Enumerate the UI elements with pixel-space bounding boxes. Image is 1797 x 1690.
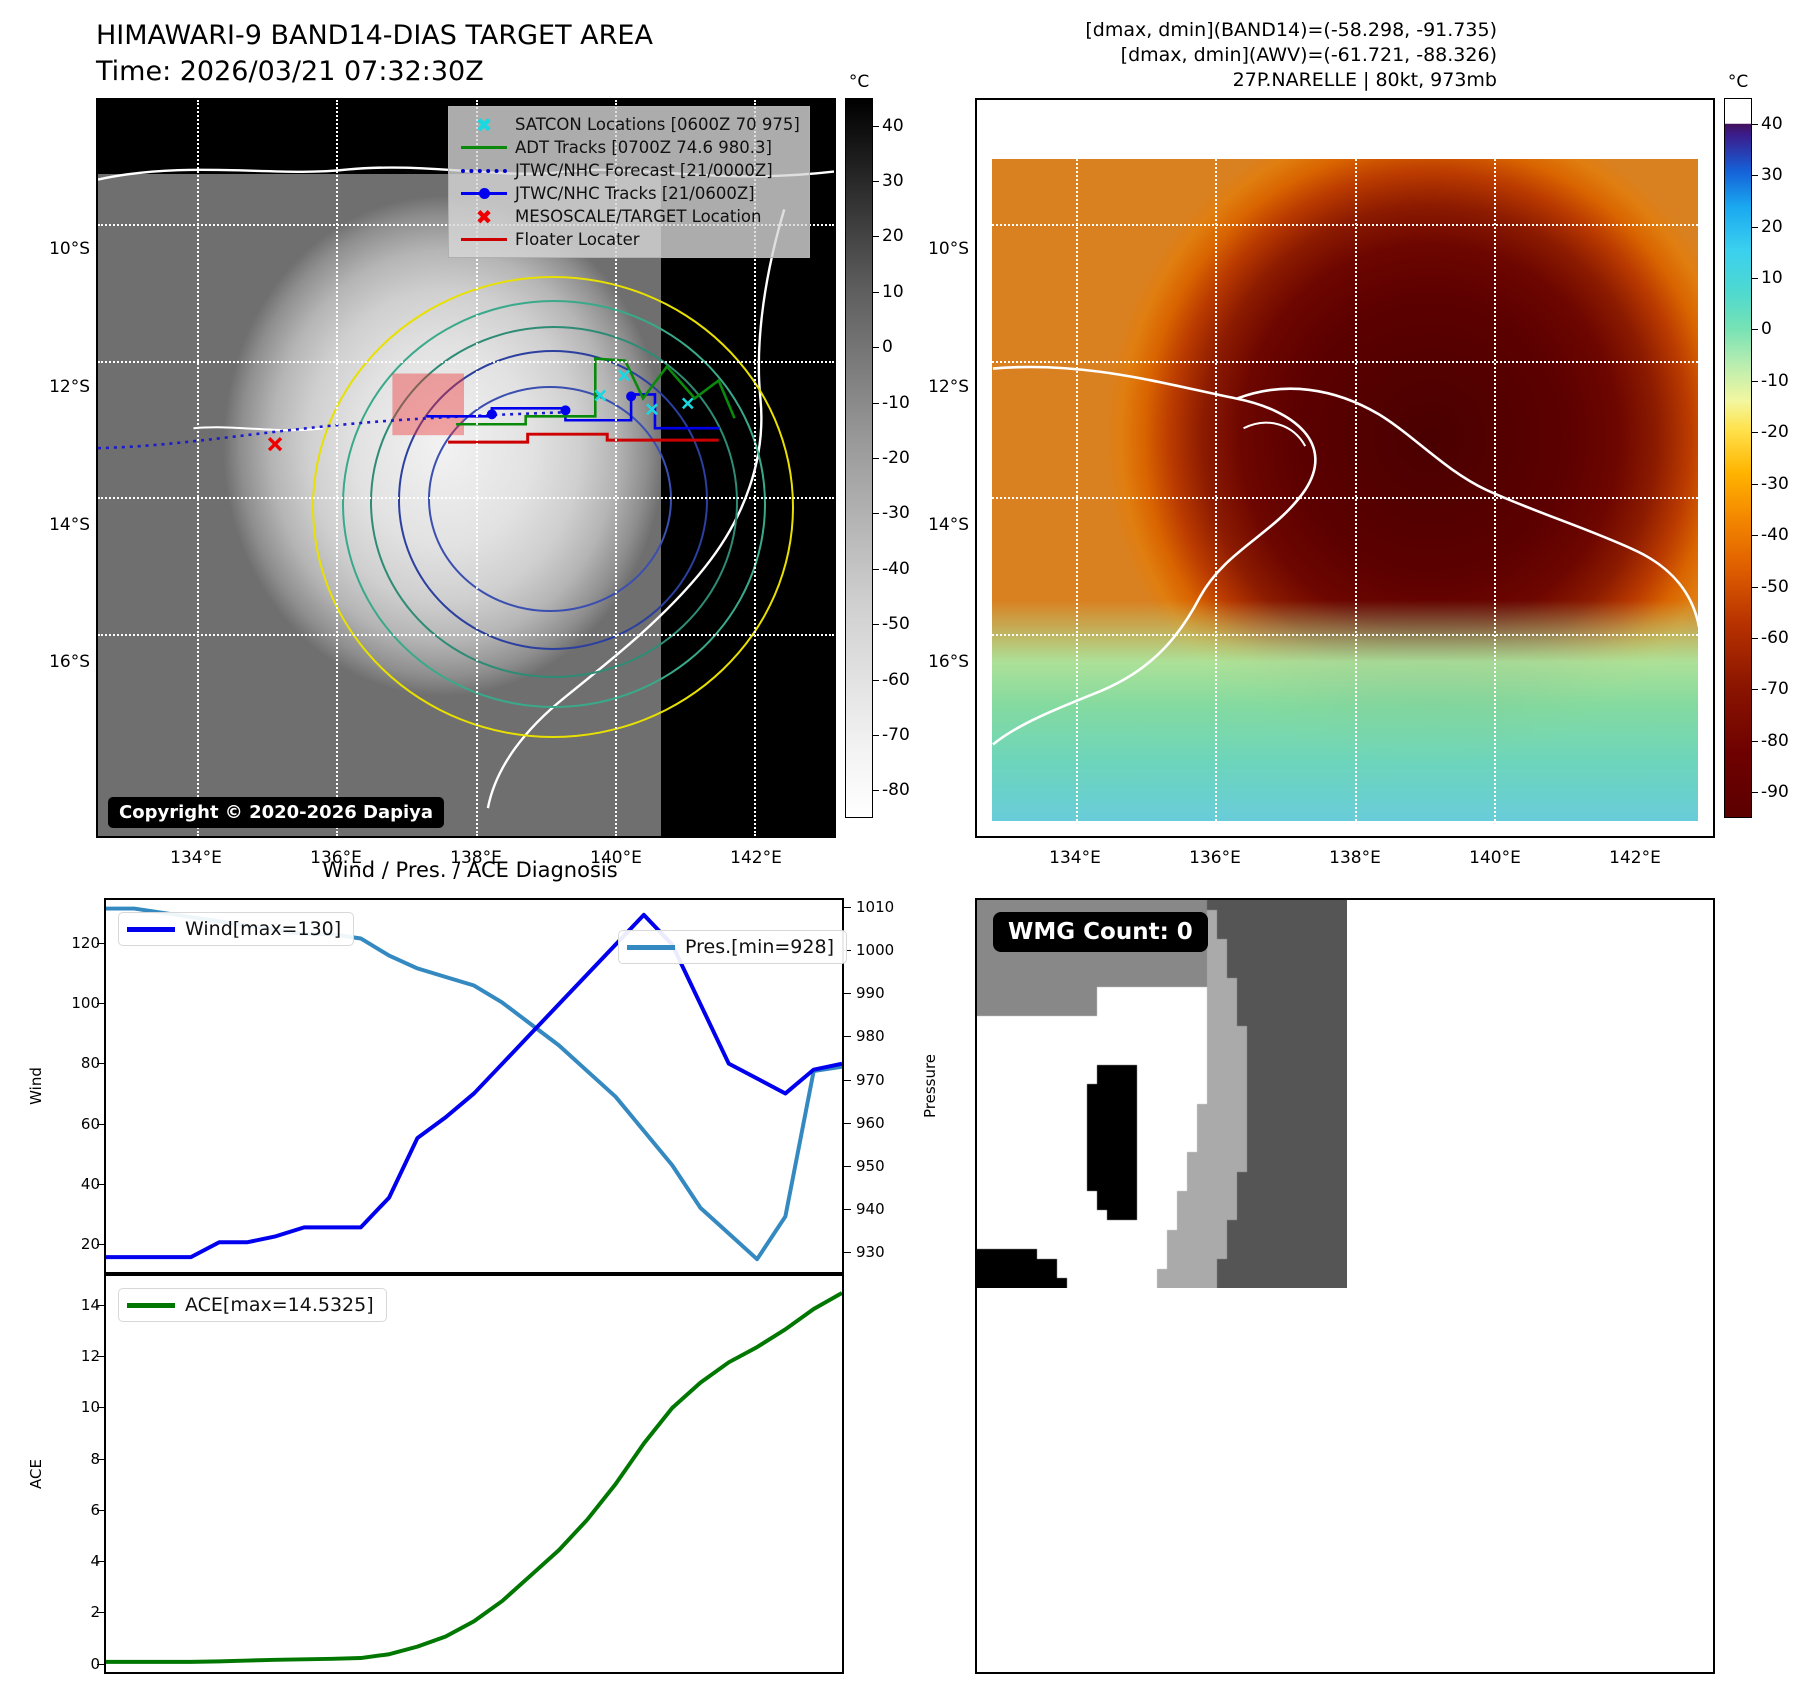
timestamp-text: Time: 2026/03/21 07:32:30Z — [96, 54, 653, 90]
colorbar-tick: -60 — [1752, 628, 1789, 648]
ace-legend-label: ACE[max=14.5325] — [185, 1294, 374, 1316]
axis-tickmark — [97, 1124, 104, 1125]
wind-legend-label: Wind[max=130] — [185, 918, 341, 940]
pressure-legend[interactable]: Pres.[min=928] — [618, 930, 847, 964]
axis-tickmark — [97, 1063, 104, 1064]
ir-lat-tick: 14°S — [40, 515, 90, 535]
axis-tick-label: 40 — [50, 1175, 100, 1193]
mesoscale-x-icon: ✖ — [456, 205, 512, 228]
copyright-badge: Copyright © 2020-2026 Dapiya — [108, 797, 444, 828]
axis-tickmark — [844, 1252, 851, 1253]
awv-lat-tick: 12°S — [919, 377, 969, 397]
colorbar-tick: 0 — [873, 337, 893, 357]
axis-tick-label: 970 — [856, 1071, 885, 1089]
awv-lon-tick: 140°E — [1469, 848, 1521, 868]
dashboard-page: HIMAWARI-9 BAND14-DIAS TARGET AREA Time:… — [0, 0, 1797, 1690]
axis-tickmark — [97, 943, 104, 944]
axis-tick-label: 6 — [50, 1501, 100, 1519]
page-title: HIMAWARI-9 BAND14-DIAS TARGET AREA Time:… — [96, 18, 653, 90]
adt-line-icon — [456, 136, 512, 159]
map-legend[interactable]: ✖ SATCON Locations [0600Z 70 975] ADT Tr… — [448, 106, 810, 258]
axis-tickmark — [97, 1244, 104, 1245]
wind-axis-label: Wind — [27, 1067, 45, 1105]
axis-tick-label: 100 — [50, 994, 100, 1012]
axis-tickmark — [97, 1561, 104, 1562]
axis-tick-label: 1000 — [856, 941, 894, 959]
awv-lon-tick: 134°E — [1049, 848, 1101, 868]
axis-tickmark — [844, 1123, 851, 1124]
colorbar-tick: 40 — [873, 116, 904, 136]
axis-tick-label: 80 — [50, 1054, 100, 1072]
axis-tickmark — [97, 1356, 104, 1357]
colorbar-tick: -30 — [1752, 474, 1789, 494]
axis-tickmark — [844, 907, 851, 908]
wind-legend[interactable]: Wind[max=130] — [118, 912, 354, 946]
axis-tick-label: 20 — [50, 1235, 100, 1253]
awv-color-map-panel[interactable] — [975, 98, 1715, 838]
axis-tickmark — [844, 1080, 851, 1081]
floater-line-icon — [456, 228, 512, 251]
colorbar-tick: -70 — [873, 725, 910, 745]
axis-tickmark — [97, 1305, 104, 1306]
ir-lat-tick: 12°S — [40, 377, 90, 397]
axis-tick-label: 1010 — [856, 898, 894, 916]
storm-id-label: 27P.NARELLE | 80kt, 973mb — [1085, 68, 1497, 93]
colorbar-tick: -80 — [1752, 731, 1789, 751]
awv-lon-tick: 142°E — [1609, 848, 1661, 868]
ir-grayscale-map-panel[interactable]: Copyright © 2020-2026 Dapiya ✖ SATCON Lo… — [96, 98, 836, 838]
axis-tick-label: 60 — [50, 1115, 100, 1133]
legend-item-adt[interactable]: ADT Tracks [0700Z 74.6 980.3] — [456, 136, 800, 159]
ace-axis-label: ACE — [27, 1459, 45, 1489]
wmg-count-badge: WMG Count: 0 — [993, 912, 1208, 952]
colorbar-tick: 0 — [1752, 319, 1772, 339]
axis-tick-label: 950 — [856, 1157, 885, 1175]
colorbar-tick: -40 — [873, 559, 910, 579]
colorbar-tick: -30 — [873, 503, 910, 523]
axis-tick-label: 12 — [50, 1347, 100, 1365]
ace-line-icon — [127, 1303, 175, 1308]
axis-tick-label: 8 — [50, 1450, 100, 1468]
meta-awv: [dmax, dmin](AWV)=(-61.721, -88.326) — [1085, 43, 1497, 68]
diagnosis-chart-title: Wind / Pres. / ACE Diagnosis — [322, 858, 617, 882]
legend-item-mesoscale[interactable]: ✖ MESOSCALE/TARGET Location — [456, 205, 800, 228]
colorbar-tick: 40 — [1752, 114, 1783, 134]
colorbar-tick: 30 — [873, 171, 904, 191]
colorbar-tick: -10 — [1752, 371, 1789, 391]
axis-tick-label: 960 — [856, 1114, 885, 1132]
axis-tickmark — [844, 1036, 851, 1037]
ir-lon-tick: 142°E — [730, 848, 782, 868]
legend-label: JTWC/NHC Tracks [21/0600Z] — [512, 184, 755, 203]
legend-label: ADT Tracks [0700Z 74.6 980.3] — [512, 138, 772, 157]
axis-tick-label: 2 — [50, 1603, 100, 1621]
colorbar-tick: -90 — [1752, 782, 1789, 802]
floater-locater-line — [448, 434, 719, 442]
axis-tick-label: 980 — [856, 1027, 885, 1045]
mesoscale-target-marker — [269, 438, 281, 450]
ace-chart[interactable] — [104, 1274, 844, 1674]
colorbar-tick: 10 — [1752, 268, 1783, 288]
pressure-axis-label: Pressure — [921, 1054, 939, 1118]
axis-tickmark — [97, 1510, 104, 1511]
colorbar-tick: 10 — [873, 282, 904, 302]
colorbar-tick: -40 — [1752, 525, 1789, 545]
axis-tickmark — [97, 1407, 104, 1408]
title-text: HIMAWARI-9 BAND14-DIAS TARGET AREA — [96, 18, 653, 54]
axis-tickmark — [97, 1459, 104, 1460]
colorbar-tick: -20 — [873, 448, 910, 468]
metadata-block: [dmax, dmin](BAND14)=(-58.298, -91.735) … — [1085, 18, 1497, 93]
awv-lon-tick: 138°E — [1329, 848, 1381, 868]
pressure-line-icon — [627, 945, 675, 950]
ace-legend[interactable]: ACE[max=14.5325] — [118, 1288, 387, 1322]
forecast-dotted-line-icon — [456, 159, 512, 182]
axis-tickmark — [97, 1003, 104, 1004]
legend-item-floater[interactable]: Floater Locater — [456, 228, 800, 251]
target-box — [392, 374, 464, 436]
colorbar-tick: 20 — [1752, 217, 1783, 237]
legend-label: JTWC/NHC Forecast [21/0000Z] — [512, 161, 773, 180]
awv-lat-tick: 16°S — [919, 652, 969, 672]
legend-label: SATCON Locations [0600Z 70 975] — [512, 115, 800, 134]
colorbar-tick: -50 — [1752, 577, 1789, 597]
axis-tickmark — [97, 1664, 104, 1665]
awv-colorbar: °C 40 30 20 10 0 -10 -20 -30 -40 -50 -60… — [1724, 98, 1752, 818]
meta-band14: [dmax, dmin](BAND14)=(-58.298, -91.735) — [1085, 18, 1497, 43]
colorbar-tick: 20 — [873, 226, 904, 246]
ir-lat-tick: 10°S — [40, 239, 90, 259]
legend-label: Floater Locater — [512, 230, 640, 249]
colorbar-tick: 30 — [1752, 165, 1783, 185]
axis-tickmark — [97, 1184, 104, 1185]
wind-line-icon — [127, 927, 175, 932]
track-line-dot-icon — [456, 182, 512, 205]
ace-plot — [106, 1276, 842, 1672]
colorbar-tick: -10 — [873, 393, 910, 413]
colorbar-unit-label: °C — [845, 72, 873, 92]
wmg-mask-image — [977, 900, 1347, 1288]
ir-lat-tick: 16°S — [40, 652, 90, 672]
awv-lat-tick: 14°S — [919, 515, 969, 535]
axis-tick-label: 990 — [856, 984, 885, 1002]
colorbar-tick: -70 — [1752, 679, 1789, 699]
ir-colorbar: °C 40 30 20 10 0 -10 -20 -30 -40 -50 -60… — [845, 98, 873, 818]
axis-tick-label: 120 — [50, 934, 100, 952]
colorbar-unit-label: °C — [1724, 72, 1752, 92]
axis-tick-label: 940 — [856, 1200, 885, 1218]
satcon-x-icon: ✖ — [456, 113, 512, 136]
axis-tick-label: 0 — [50, 1655, 100, 1673]
legend-item-satcon[interactable]: ✖ SATCON Locations [0600Z 70 975] — [456, 113, 800, 136]
legend-label: MESOSCALE/TARGET Location — [512, 207, 761, 226]
awv-lat-tick: 10°S — [919, 239, 969, 259]
wmg-panel[interactable]: WMG Count: 0 — [975, 898, 1715, 1674]
colorbar-tick: -50 — [873, 614, 910, 634]
legend-item-forecast[interactable]: JTWC/NHC Forecast [21/0000Z] — [456, 159, 800, 182]
axis-tick-label: 10 — [50, 1398, 100, 1416]
axis-tick-label: 4 — [50, 1552, 100, 1570]
axis-tickmark — [844, 993, 851, 994]
axis-tick-label: 930 — [856, 1243, 885, 1261]
awv-coastline-overlay — [977, 100, 1713, 836]
awv-lon-tick: 136°E — [1189, 848, 1241, 868]
legend-item-tracks[interactable]: JTWC/NHC Tracks [21/0600Z] — [456, 182, 800, 205]
colorbar-tick: -20 — [1752, 422, 1789, 442]
pressure-legend-label: Pres.[min=928] — [685, 936, 834, 958]
axis-tickmark — [844, 1209, 851, 1210]
satcon-marker — [595, 371, 692, 415]
axis-tickmark — [97, 1612, 104, 1613]
axis-tickmark — [844, 1166, 851, 1167]
awv-map-image — [977, 100, 1713, 836]
axis-tick-label: 14 — [50, 1296, 100, 1314]
ir-lon-tick: 134°E — [170, 848, 222, 868]
colorbar-tick: -80 — [873, 780, 910, 800]
colorbar-tick: -60 — [873, 670, 910, 690]
